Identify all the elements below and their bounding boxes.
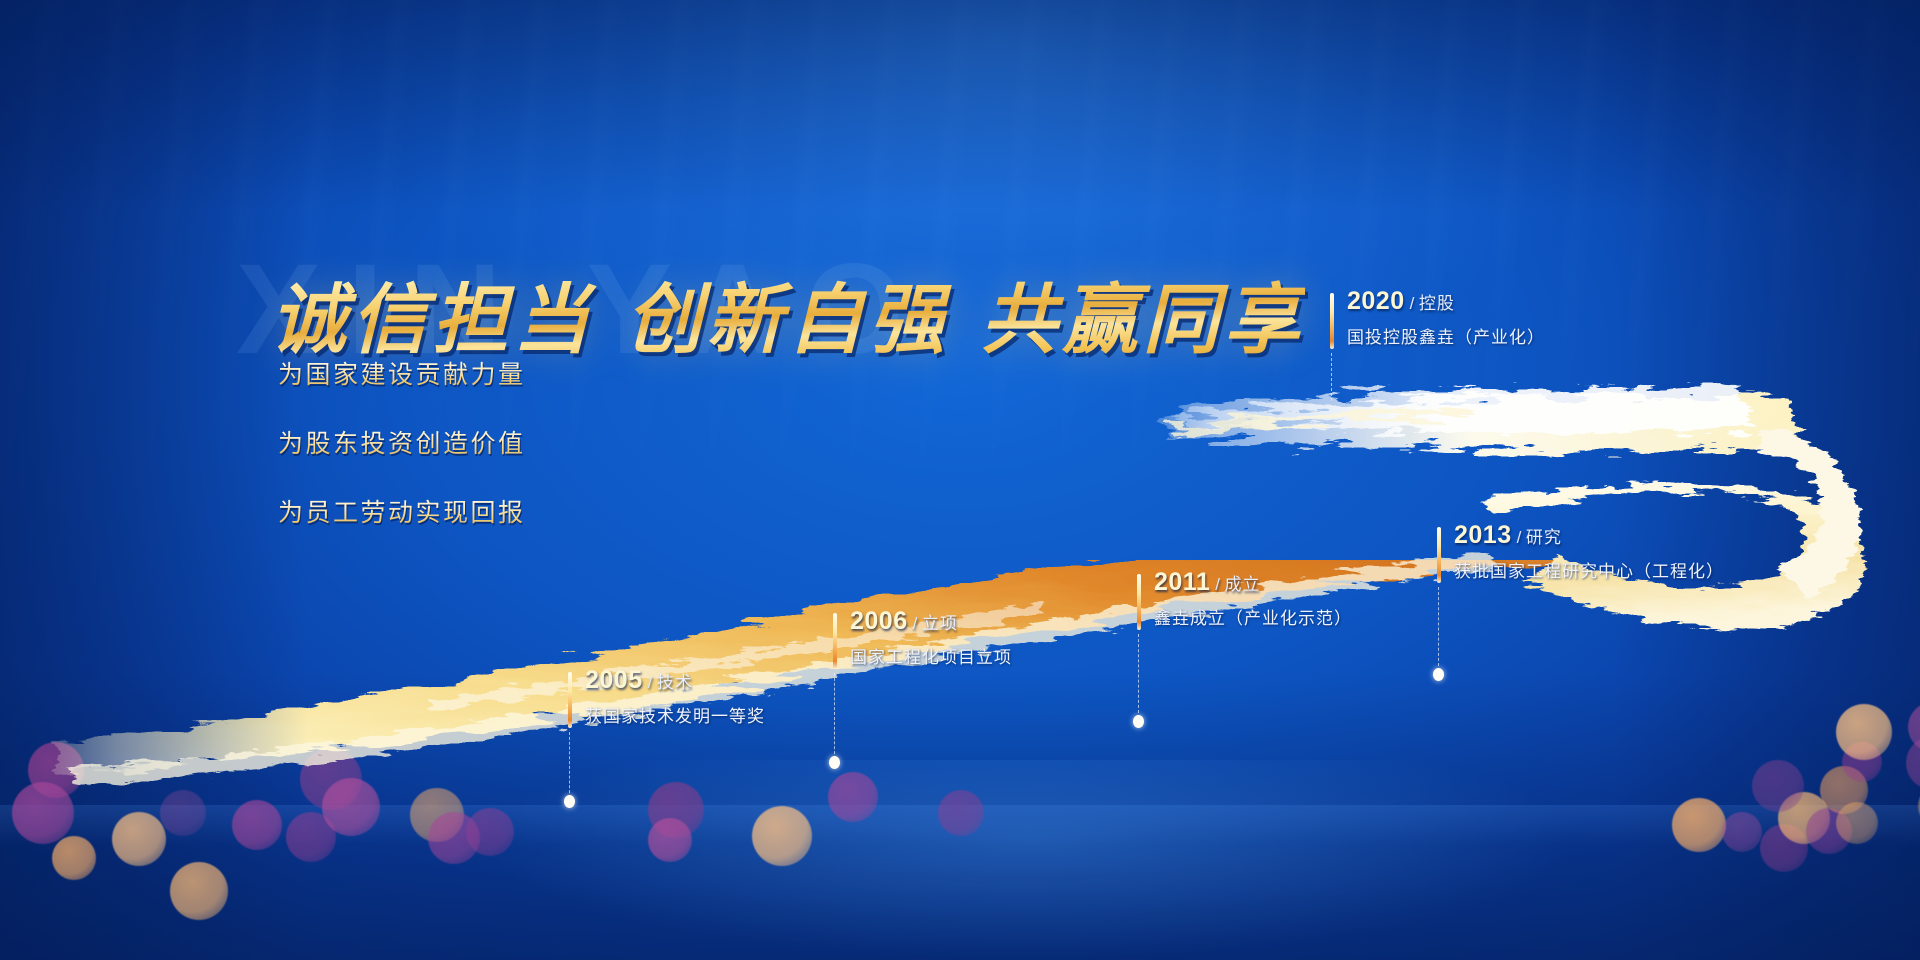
milestone-year: 2013/研究	[1454, 521, 1562, 550]
milestone-year: 2006/立项	[850, 607, 958, 636]
subtitle-line: 为股东投资创造价值	[278, 424, 526, 460]
subtitle-line: 为员工劳动实现回报	[278, 493, 526, 529]
milestone-description: 获国家技术发明一等奖	[585, 702, 765, 727]
milestone-description: 鑫垚成立（产业化示范）	[1154, 604, 1352, 629]
milestone-tag: 立项	[922, 614, 958, 633]
milestone-separator: /	[648, 673, 653, 692]
milestone-leader-line	[834, 673, 835, 759]
milestone-accent-bar	[1330, 293, 1334, 349]
milestone-tag: 控股	[1419, 294, 1455, 313]
milestone-leader-line	[1138, 634, 1139, 718]
milestone-tag: 成立	[1224, 575, 1260, 594]
milestone-accent-bar	[833, 613, 837, 669]
milestone-tag: 研究	[1526, 528, 1562, 547]
subtitle-line: 为国家建设贡献力量	[278, 355, 526, 391]
milestone-separator: /	[1410, 294, 1415, 313]
milestone-dot	[564, 795, 575, 808]
milestone-accent-bar	[1137, 574, 1141, 630]
poster-canvas: XIN YAO 诚信担当 创新自强 共赢同享 为国家建设贡献力量 为股东投资创造…	[0, 0, 1920, 960]
milestone-leader-line	[1331, 353, 1332, 401]
subtitle-list: 为国家建设贡献力量 为股东投资创造价值 为员工劳动实现回报	[278, 355, 526, 562]
milestone-year: 2011/成立	[1154, 568, 1260, 597]
milestone-description: 国家工程化项目立项	[850, 643, 1012, 668]
milestone-dot	[829, 756, 840, 769]
milestone-year: 2020/控股	[1347, 287, 1455, 316]
page-title: 诚信担当 创新自强 共赢同享	[270, 258, 1305, 368]
milestone-separator: /	[913, 614, 918, 633]
milestone-accent-bar	[1437, 527, 1441, 583]
milestone-year: 2005/技术	[585, 666, 693, 695]
milestone-dot	[1133, 715, 1144, 728]
milestone-separator: /	[1517, 528, 1522, 547]
milestone-tag: 技术	[657, 673, 693, 692]
milestone-dot	[1433, 668, 1444, 681]
milestone-separator: /	[1215, 575, 1220, 594]
milestone-description: 获批国家工程研究中心（工程化）	[1454, 557, 1724, 582]
milestone-leader-line	[569, 732, 570, 798]
milestone-accent-bar	[568, 672, 572, 728]
milestone-leader-line	[1438, 587, 1439, 671]
milestone-description: 国投控股鑫垚（产业化）	[1347, 323, 1545, 348]
